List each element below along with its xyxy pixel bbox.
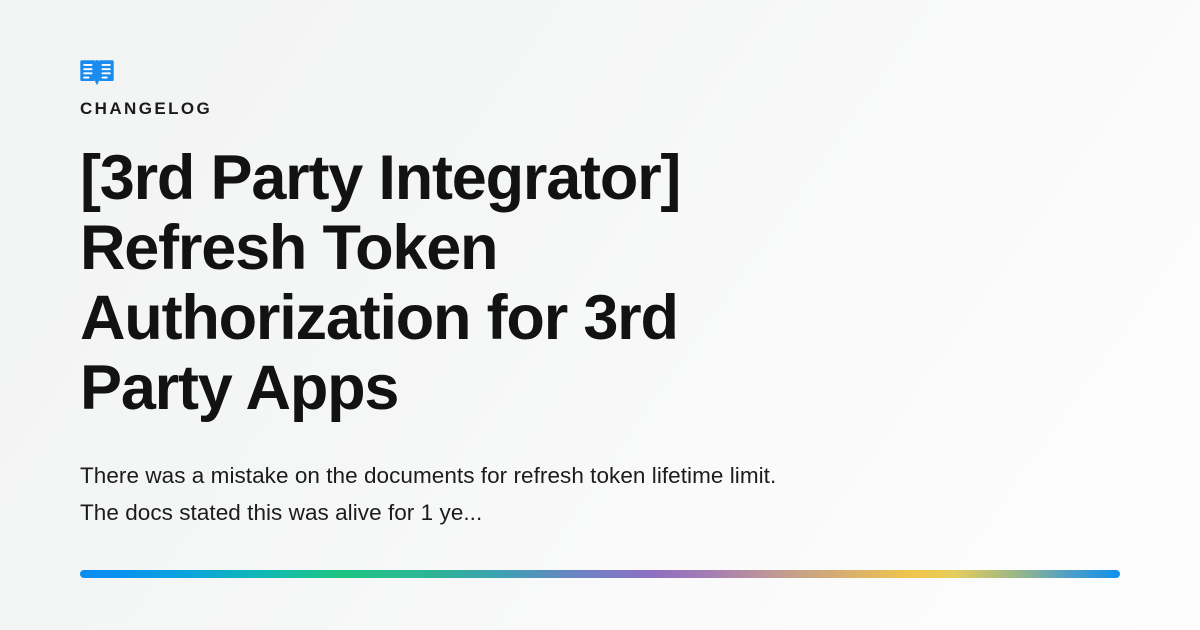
brand-block: CHANGELOG bbox=[80, 58, 1120, 117]
open-book-icon bbox=[80, 58, 114, 88]
page-title: [3rd Party Integrator] Refresh Token Aut… bbox=[80, 143, 770, 423]
brand-name: CHANGELOG bbox=[80, 100, 212, 117]
entry-excerpt: There was a mistake on the documents for… bbox=[80, 457, 820, 531]
changelog-og-card: CHANGELOG [3rd Party Integrator] Refresh… bbox=[0, 0, 1200, 630]
accent-gradient-rule bbox=[80, 570, 1120, 578]
